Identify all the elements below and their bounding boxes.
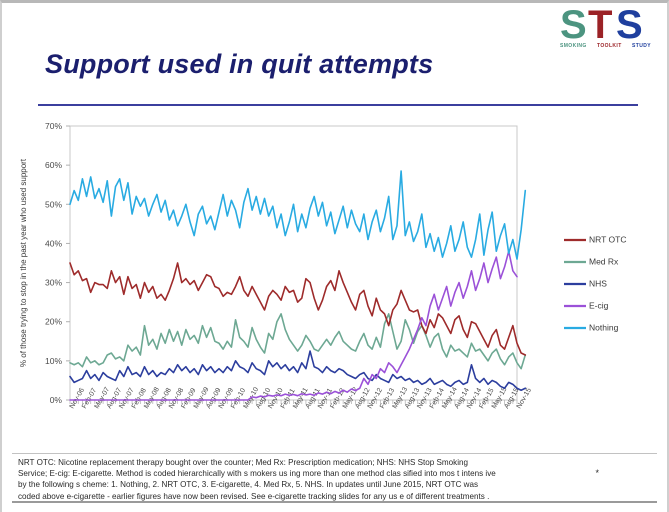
y-tick-label: 70%: [45, 121, 62, 131]
footnote-line-4: coded above e-cigarette - earlier figure…: [18, 491, 651, 502]
y-tick-label: 10%: [45, 356, 62, 366]
y-tick-label: 30%: [45, 278, 62, 288]
legend-label-nrt-otc: NRT OTC: [589, 234, 626, 244]
y-tick-label: 60%: [45, 160, 62, 170]
logo-word-toolkit: TOOLKIT: [597, 43, 622, 49]
logo-letter-s2: S: [616, 5, 643, 45]
logo-wordmark: SMOKING TOOLKIT STUDY: [554, 43, 666, 55]
footnote-line-3: by the following s cheme: 1. Nothing, 2.…: [18, 479, 651, 490]
plot-background: [70, 126, 517, 400]
footnote-asterisk: *: [595, 468, 599, 479]
y-tick-label: 20%: [45, 317, 62, 327]
slide-container: S T S SMOKING TOOLKIT STUDY Support used…: [0, 0, 669, 512]
y-axis-ticks: 0%10%20%30%40%50%60%70%: [45, 121, 70, 405]
page-title: Support used in quit attempts: [45, 49, 433, 80]
chart-legend: NRT OTCMed RxNHSE-cigNothing: [564, 234, 626, 332]
y-tick-label: 40%: [45, 238, 62, 248]
sts-logo: S T S SMOKING TOOLKIT STUDY: [554, 7, 666, 65]
legend-label-nothing: Nothing: [589, 322, 619, 332]
line-chart: 0%10%20%30%40%50%60%70% Nov-06Feb-07May-…: [12, 118, 662, 448]
legend-label-nhs: NHS: [589, 278, 607, 288]
legend-label-e-cig: E-cig: [589, 300, 609, 310]
y-tick-label: 50%: [45, 199, 62, 209]
title-divider: [38, 104, 638, 106]
footnote-block: NRT OTC: Nicotine replacement therapy bo…: [12, 453, 657, 503]
logo-word-study: STUDY: [632, 43, 651, 49]
y-axis-label: % of those trying to stop in the past ye…: [19, 158, 28, 367]
logo-letter-s1: S: [560, 5, 587, 45]
logo-letter-t: T: [588, 5, 612, 45]
footnote-line-1: NRT OTC: Nicotine replacement therapy bo…: [18, 457, 651, 468]
logo-word-smoking: SMOKING: [560, 43, 587, 49]
legend-label-med-rx: Med Rx: [589, 256, 619, 266]
footnote-line-2: Service; E-cig: E-cigarette. Method is c…: [18, 468, 651, 479]
y-axis-title: % of those trying to stop in the past ye…: [19, 158, 28, 367]
y-tick-label: 0%: [50, 395, 63, 405]
logo-letters: S T S: [554, 7, 666, 47]
chart-container: 0%10%20%30%40%50%60%70% Nov-06Feb-07May-…: [12, 118, 662, 448]
